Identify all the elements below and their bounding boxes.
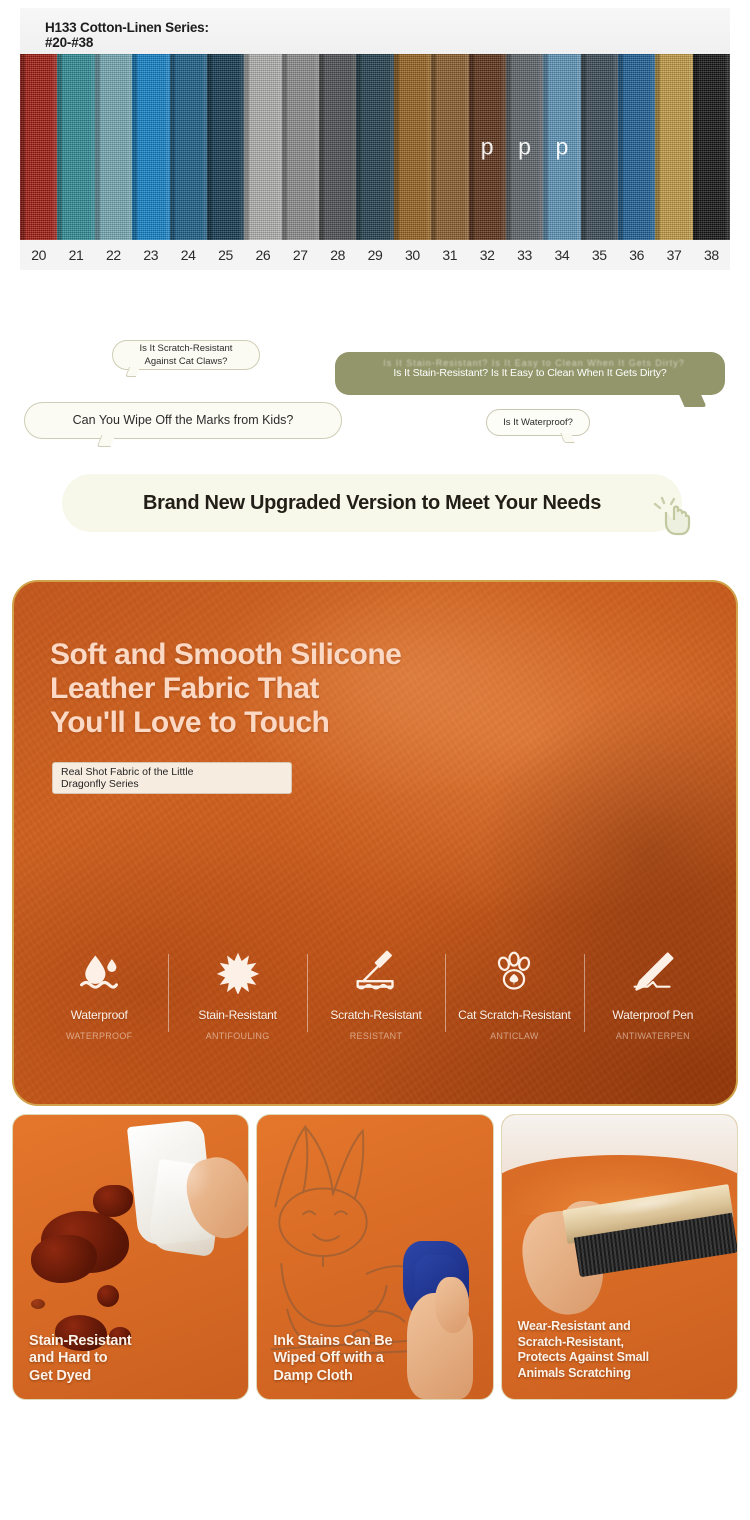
swatch-number-34: 34 [543, 247, 580, 263]
water-drop-icon [77, 944, 121, 1000]
feature-label: Scratch-Resistant [330, 1008, 421, 1022]
feature-waterproof: WaterproofWATERPROOF [30, 944, 168, 1074]
swatch-number-row: 20212223242526272829303132333435363738 [20, 240, 730, 270]
stain-splash-icon [216, 944, 260, 1000]
feature-stain-resistant: Stain-ResistantANTIFOULING [168, 944, 306, 1074]
feature-cat-scratch-resistant: Cat Scratch-ResistantANTICLAW [445, 944, 583, 1074]
swatch-edge [20, 54, 25, 240]
swatch-watermark: p [481, 134, 494, 161]
feature-label: Stain-Resistant [198, 1008, 276, 1022]
swatch-watermark: p [518, 134, 531, 161]
swatch-number-22: 22 [95, 247, 132, 263]
swatch-number-37: 37 [655, 247, 692, 263]
bubble-tail [97, 435, 116, 447]
feature-label: Waterproof [71, 1008, 128, 1022]
swatch-number-33: 33 [506, 247, 543, 263]
swatch-edge [170, 54, 175, 240]
blade-scratch-icon [354, 944, 398, 1000]
swatch-number-35: 35 [581, 247, 618, 263]
swatch-edge [394, 54, 399, 240]
swatch-number-32: 32 [469, 247, 506, 263]
swatch-edge [655, 54, 660, 240]
bubble-stain-clean-text: Is It Stain-Resistant? Is It Easy to Cle… [393, 367, 666, 380]
panel-caption: Stain-Resistant and Hard to Get Dyed [29, 1333, 238, 1386]
hero-series-tag: Real Shot Fabric of the Little Dragonfly… [52, 762, 292, 794]
bubble-cat-claws: Is It Scratch-Resistant Against Cat Claw… [112, 340, 260, 370]
swatch-number-36: 36 [618, 247, 655, 263]
swatch-edge [282, 54, 287, 240]
demo-panels-row: Stain-Resistant and Hard to Get Dyed [12, 1114, 738, 1400]
swatch-number-20: 20 [20, 247, 57, 263]
bubble-tail [560, 433, 575, 443]
bubble-tail [125, 367, 140, 377]
bubble-stain-ghost-text: Is It Stain-Resistant? Is It Easy to Cle… [357, 357, 711, 368]
panel-caption: Ink Stains Can Be Wiped Off with a Damp … [273, 1333, 482, 1386]
panel-wear-resistant: Wear-Resistant and Scratch-Resistant, Pr… [501, 1114, 738, 1400]
swatch-edge [431, 54, 436, 240]
swatch-edge [207, 54, 212, 240]
panel-ink-stains: Ink Stains Can Be Wiped Off with a Damp … [256, 1114, 493, 1400]
swatch-edge [132, 54, 137, 240]
swatch-edge [244, 54, 249, 240]
swatch-edge [356, 54, 361, 240]
upgrade-banner: Brand New Upgraded Version to Meet Your … [62, 474, 682, 532]
feature-label: Waterproof Pen [612, 1008, 693, 1022]
bubble-kids-marks-text: Can You Wipe Off the Marks from Kids? [73, 414, 294, 427]
hero-series-tag-text: Real Shot Fabric of the Little Dragonfly… [61, 766, 194, 790]
swatch-number-26: 26 [244, 247, 281, 263]
bubble-kids-marks: Can You Wipe Off the Marks from Kids? [24, 402, 342, 439]
feature-sublabel: ANTICLAW [490, 1031, 539, 1041]
panel-caption: Wear-Resistant and Scratch-Resistant, Pr… [518, 1319, 727, 1381]
feature-waterproof-pen: Waterproof PenANTIWATERPEN [584, 944, 722, 1074]
tap-hand-icon [652, 496, 694, 540]
swatch-number-25: 25 [207, 247, 244, 263]
swatch-number-30: 30 [394, 247, 431, 263]
feature-scratch-resistant: Scratch-ResistantRESISTANT [307, 944, 445, 1074]
swatch-number-27: 27 [282, 247, 319, 263]
swatch-edge [57, 54, 62, 240]
swatch-number-38: 38 [693, 247, 730, 263]
feature-sublabel: ANTIWATERPEN [616, 1031, 690, 1041]
swatch-number-29: 29 [356, 247, 393, 263]
product-detail-page: H133 Cotton-Linen Series: #20-#38 ppp 20… [0, 0, 750, 1520]
swatch-number-24: 24 [170, 247, 207, 263]
swatch-number-21: 21 [57, 247, 94, 263]
feature-sublabel: RESISTANT [350, 1031, 403, 1041]
question-bubbles-group: Is It Scratch-Resistant Against Cat Claw… [0, 0, 750, 140]
swatch-edge [319, 54, 324, 240]
feature-sublabel: ANTIFOULING [206, 1031, 270, 1041]
pen-icon [631, 944, 675, 1000]
hero-title: Soft and Smooth Silicone Leather Fabric … [50, 638, 610, 740]
upgrade-banner-text: Brand New Upgraded Version to Meet Your … [143, 492, 601, 515]
bubble-tail [677, 391, 706, 407]
swatch-edge [726, 54, 730, 240]
feature-icon-row: WaterproofWATERPROOFStain-ResistantANTIF… [30, 944, 722, 1074]
cat-paw-icon [492, 944, 536, 1000]
swatch-edge [543, 54, 548, 240]
bubble-stain-clean: Is It Stain-Resistant? Is It Easy to Cle… [335, 352, 725, 395]
feature-sublabel: WATERPROOF [66, 1031, 133, 1041]
panel-stain-resistant: Stain-Resistant and Hard to Get Dyed [12, 1114, 249, 1400]
swatch-edge [693, 54, 698, 240]
swatch-edge [618, 54, 623, 240]
swatch-edge [581, 54, 586, 240]
feature-label: Cat Scratch-Resistant [458, 1008, 571, 1022]
swatch-number-28: 28 [319, 247, 356, 263]
bubble-waterproof-text: Is It Waterproof? [503, 416, 573, 429]
swatch-number-23: 23 [132, 247, 169, 263]
swatch-edge [506, 54, 511, 240]
swatch-edge [95, 54, 100, 240]
swatch-watermark: p [556, 134, 569, 161]
bubble-cat-claws-text: Is It Scratch-Resistant Against Cat Claw… [140, 342, 233, 368]
swatch-edge [469, 54, 474, 240]
swatch-number-31: 31 [431, 247, 468, 263]
bubble-waterproof: Is It Waterproof? [486, 409, 590, 436]
